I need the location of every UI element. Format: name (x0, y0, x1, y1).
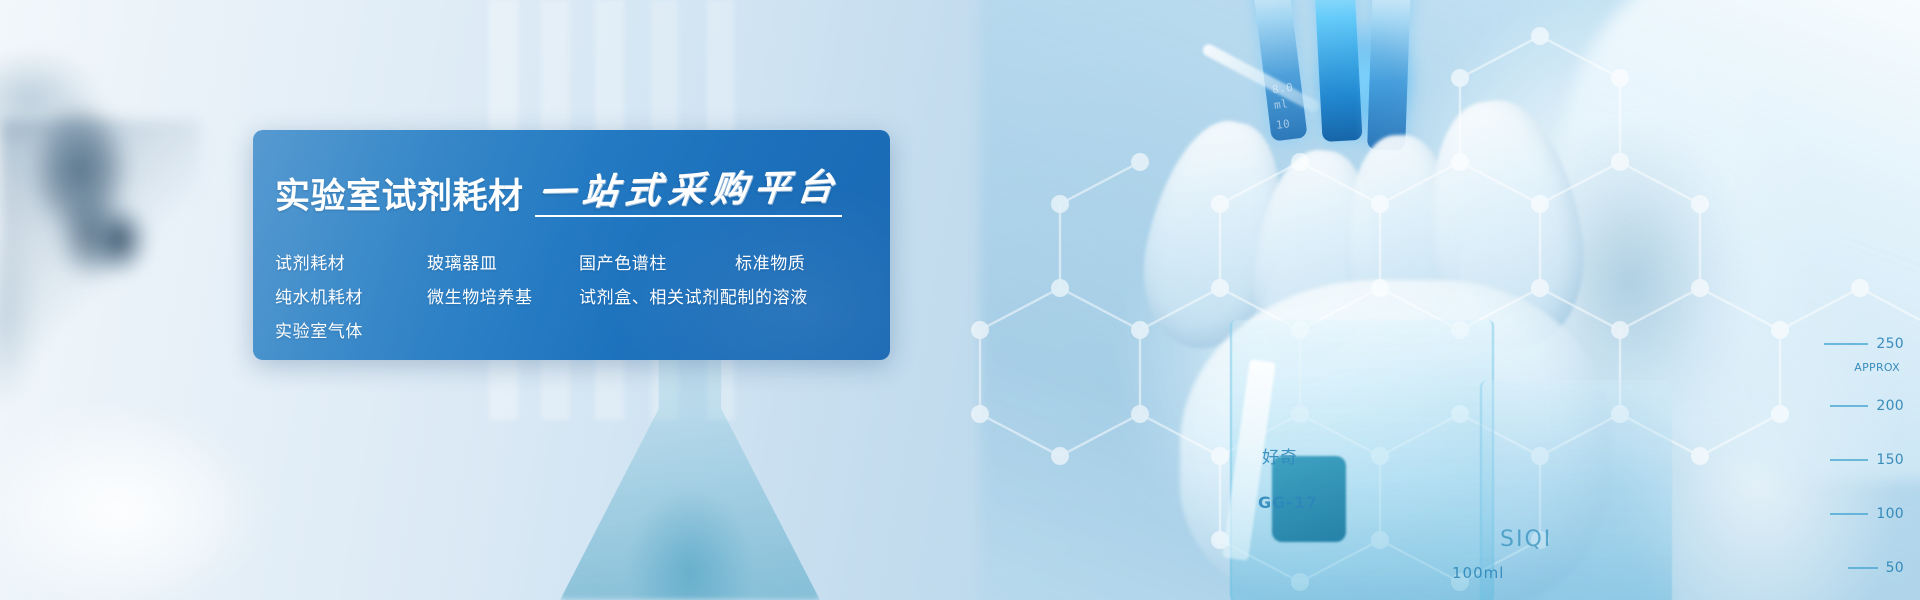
headline: 实验室试剂耗材 一站式采购平台 (275, 172, 890, 215)
category-item-reagent-kits-solutions[interactable]: 试剂盒、相关试剂配制的溶液 (579, 290, 808, 307)
lab-supplies-hero-banner: 8.0 ml 10 (0, 0, 1920, 600)
category-item-domestic-chromatography-column[interactable]: 国产色谱柱 (579, 256, 735, 273)
category-row: 纯水机耗材 微生物培养基 试剂盒、相关试剂配制的溶液 (275, 281, 890, 315)
grad-mark-250: 250 (1876, 336, 1904, 352)
microscope-lens-blur (0, 120, 200, 420)
category-item-laboratory-gases[interactable]: 实验室气体 (275, 324, 427, 341)
headline-underline (535, 215, 842, 217)
category-item-water-purifier-consumables[interactable]: 纯水机耗材 (275, 290, 427, 307)
headline-script-text: 一站式采购平台 (536, 169, 841, 211)
secondary-flask (1480, 380, 1672, 600)
category-item-glassware[interactable]: 玻璃器皿 (427, 256, 579, 273)
beaker-brand-cn: 好奇 (1262, 443, 1298, 468)
grad-mark-100: 100 (1876, 506, 1904, 522)
grad-mark-50: 50 (1886, 560, 1904, 576)
category-item-microbial-culture-media[interactable]: 微生物培养基 (427, 290, 579, 307)
beaker-glass-code: GG-17 (1258, 493, 1318, 512)
grad-mark-150: 150 (1876, 452, 1904, 468)
category-row: 实验室气体 (275, 315, 890, 349)
promo-card: 实验室试剂耗材 一站式采购平台 试剂耗材 玻璃器皿 国产色谱柱 标准物质 纯水机… (253, 130, 890, 360)
beaker-volume: 100ml (1452, 564, 1504, 582)
grad-mark-200: 200 (1876, 398, 1904, 414)
left-highlight-glow (0, 380, 350, 600)
category-list: 试剂耗材 玻璃器皿 国产色谱柱 标准物质 纯水机耗材 微生物培养基 试剂盒、相关… (275, 247, 890, 349)
category-item-reference-material[interactable]: 标准物质 (735, 256, 805, 273)
headline-main-text: 实验室试剂耗材 (275, 180, 524, 215)
grad-approx-label: APPROX (1854, 361, 1900, 374)
category-item-reagent-consumables[interactable]: 试剂耗材 (275, 256, 427, 273)
headline-script-group: 一站式采购平台 (539, 172, 840, 215)
beaker-brand-latin: SIQI (1500, 527, 1552, 552)
beaker-graduation-scale: 250 APPROX 200 150 100 50 (1754, 350, 1904, 600)
category-row: 试剂耗材 玻璃器皿 国产色谱柱 标准物质 (275, 247, 890, 281)
